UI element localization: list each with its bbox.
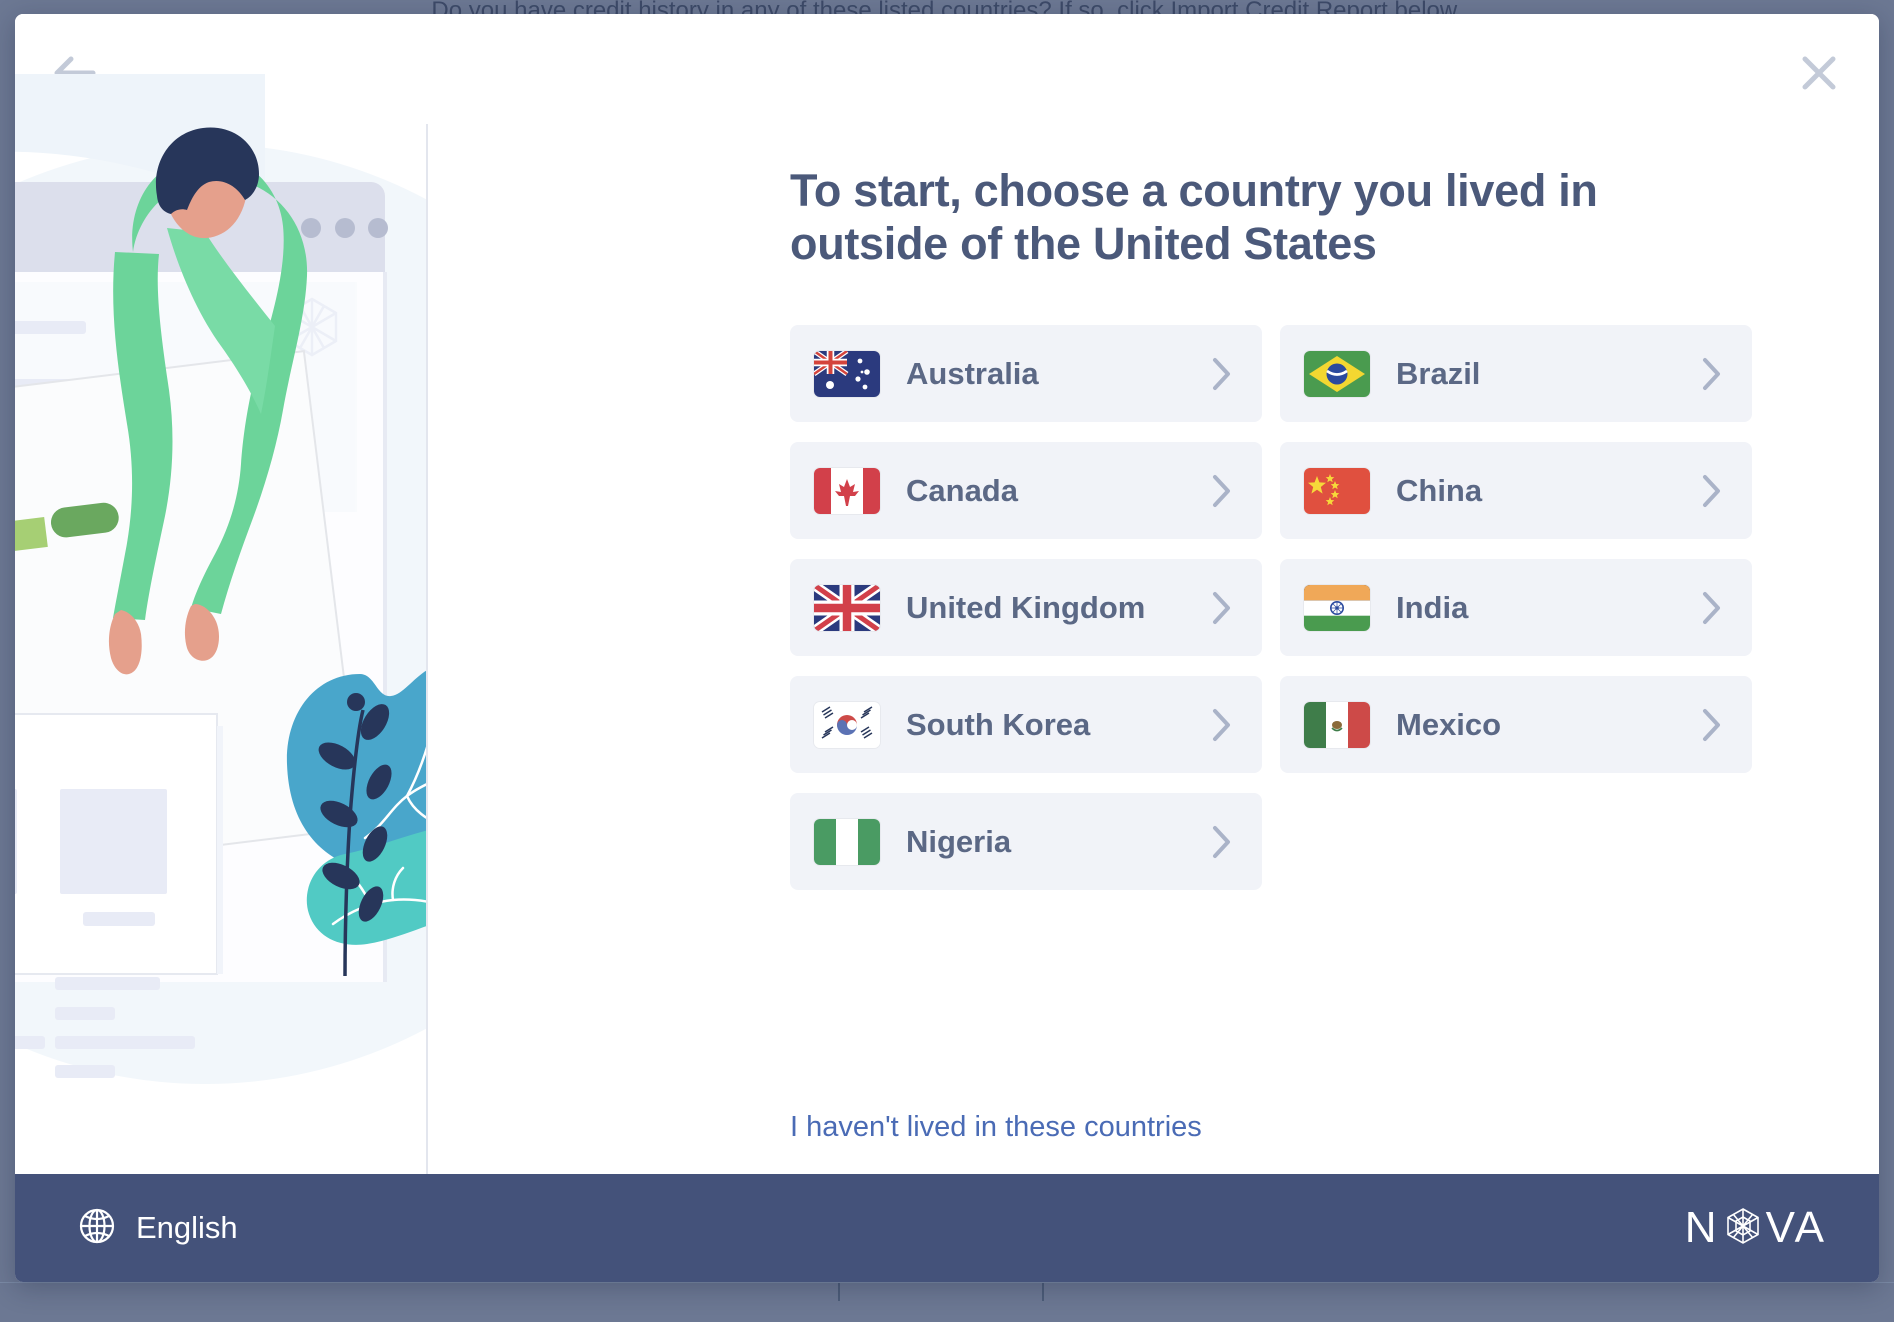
flag-india-icon [1304, 585, 1370, 631]
country-name: Canada [906, 473, 1212, 509]
nova-logo-left: N [1685, 1203, 1720, 1253]
skip-countries-link[interactable]: I haven't lived in these countries [790, 1111, 1202, 1144]
underlying-page-bottom-bar [0, 1282, 1894, 1322]
chevron-right-icon [1212, 708, 1232, 742]
country-card-south-korea[interactable]: South Korea [790, 676, 1262, 773]
country-card-mexico[interactable]: Mexico [1280, 676, 1752, 773]
language-selector[interactable]: English [77, 1206, 238, 1251]
country-name: China [1396, 473, 1702, 509]
chevron-right-icon [1212, 591, 1232, 625]
flag-australia-icon [814, 351, 880, 397]
nova-logo: N VA [1685, 1203, 1827, 1254]
flag-mexico-icon [1304, 702, 1370, 748]
modal-body: 43 [15, 14, 1879, 1174]
chevron-right-icon [1702, 591, 1722, 625]
panel-divider [426, 124, 428, 1174]
country-name: Australia [906, 356, 1212, 392]
country-card-india[interactable]: India [1280, 559, 1752, 656]
chevron-right-icon [1212, 825, 1232, 859]
modal-content: To start, choose a country you lived in … [790, 164, 1775, 890]
page-title: To start, choose a country you lived in … [790, 164, 1690, 270]
country-name: Mexico [1396, 707, 1702, 743]
country-name: India [1396, 590, 1702, 626]
chevron-right-icon [1212, 357, 1232, 391]
country-name: South Korea [906, 707, 1212, 743]
country-grid: Australia [790, 325, 1775, 890]
country-name: Nigeria [906, 824, 1212, 860]
page-backdrop: Do you have credit history in any of the… [0, 0, 1894, 1322]
flag-south-korea-icon [814, 702, 880, 748]
flag-united-kingdom-icon [814, 585, 880, 631]
chevron-right-icon [1702, 357, 1722, 391]
country-selection-modal: 43 [15, 14, 1879, 1282]
country-card-united-kingdom[interactable]: United Kingdom [790, 559, 1262, 656]
chevron-right-icon [1702, 474, 1722, 508]
flag-nigeria-icon [814, 819, 880, 865]
globe-icon [77, 1206, 117, 1251]
language-label: English [136, 1210, 238, 1246]
country-card-brazil[interactable]: Brazil [1280, 325, 1752, 422]
chevron-right-icon [1212, 474, 1232, 508]
credit-report-illustration: 43 [15, 14, 427, 1174]
flag-china-icon [1304, 468, 1370, 514]
flag-brazil-icon [1304, 351, 1370, 397]
country-card-china[interactable]: China [1280, 442, 1752, 539]
country-card-nigeria[interactable]: Nigeria [790, 793, 1262, 890]
nova-logo-hex-icon [1722, 1203, 1764, 1254]
country-name: United Kingdom [906, 590, 1212, 626]
country-card-canada[interactable]: Canada [790, 442, 1262, 539]
nova-logo-right: VA [1766, 1203, 1827, 1253]
modal-footer: English N VA [15, 1174, 1879, 1282]
country-name: Brazil [1396, 356, 1702, 392]
close-icon[interactable] [1792, 46, 1846, 100]
country-card-australia[interactable]: Australia [790, 325, 1262, 422]
flag-canada-icon [814, 468, 880, 514]
chevron-right-icon [1702, 708, 1722, 742]
